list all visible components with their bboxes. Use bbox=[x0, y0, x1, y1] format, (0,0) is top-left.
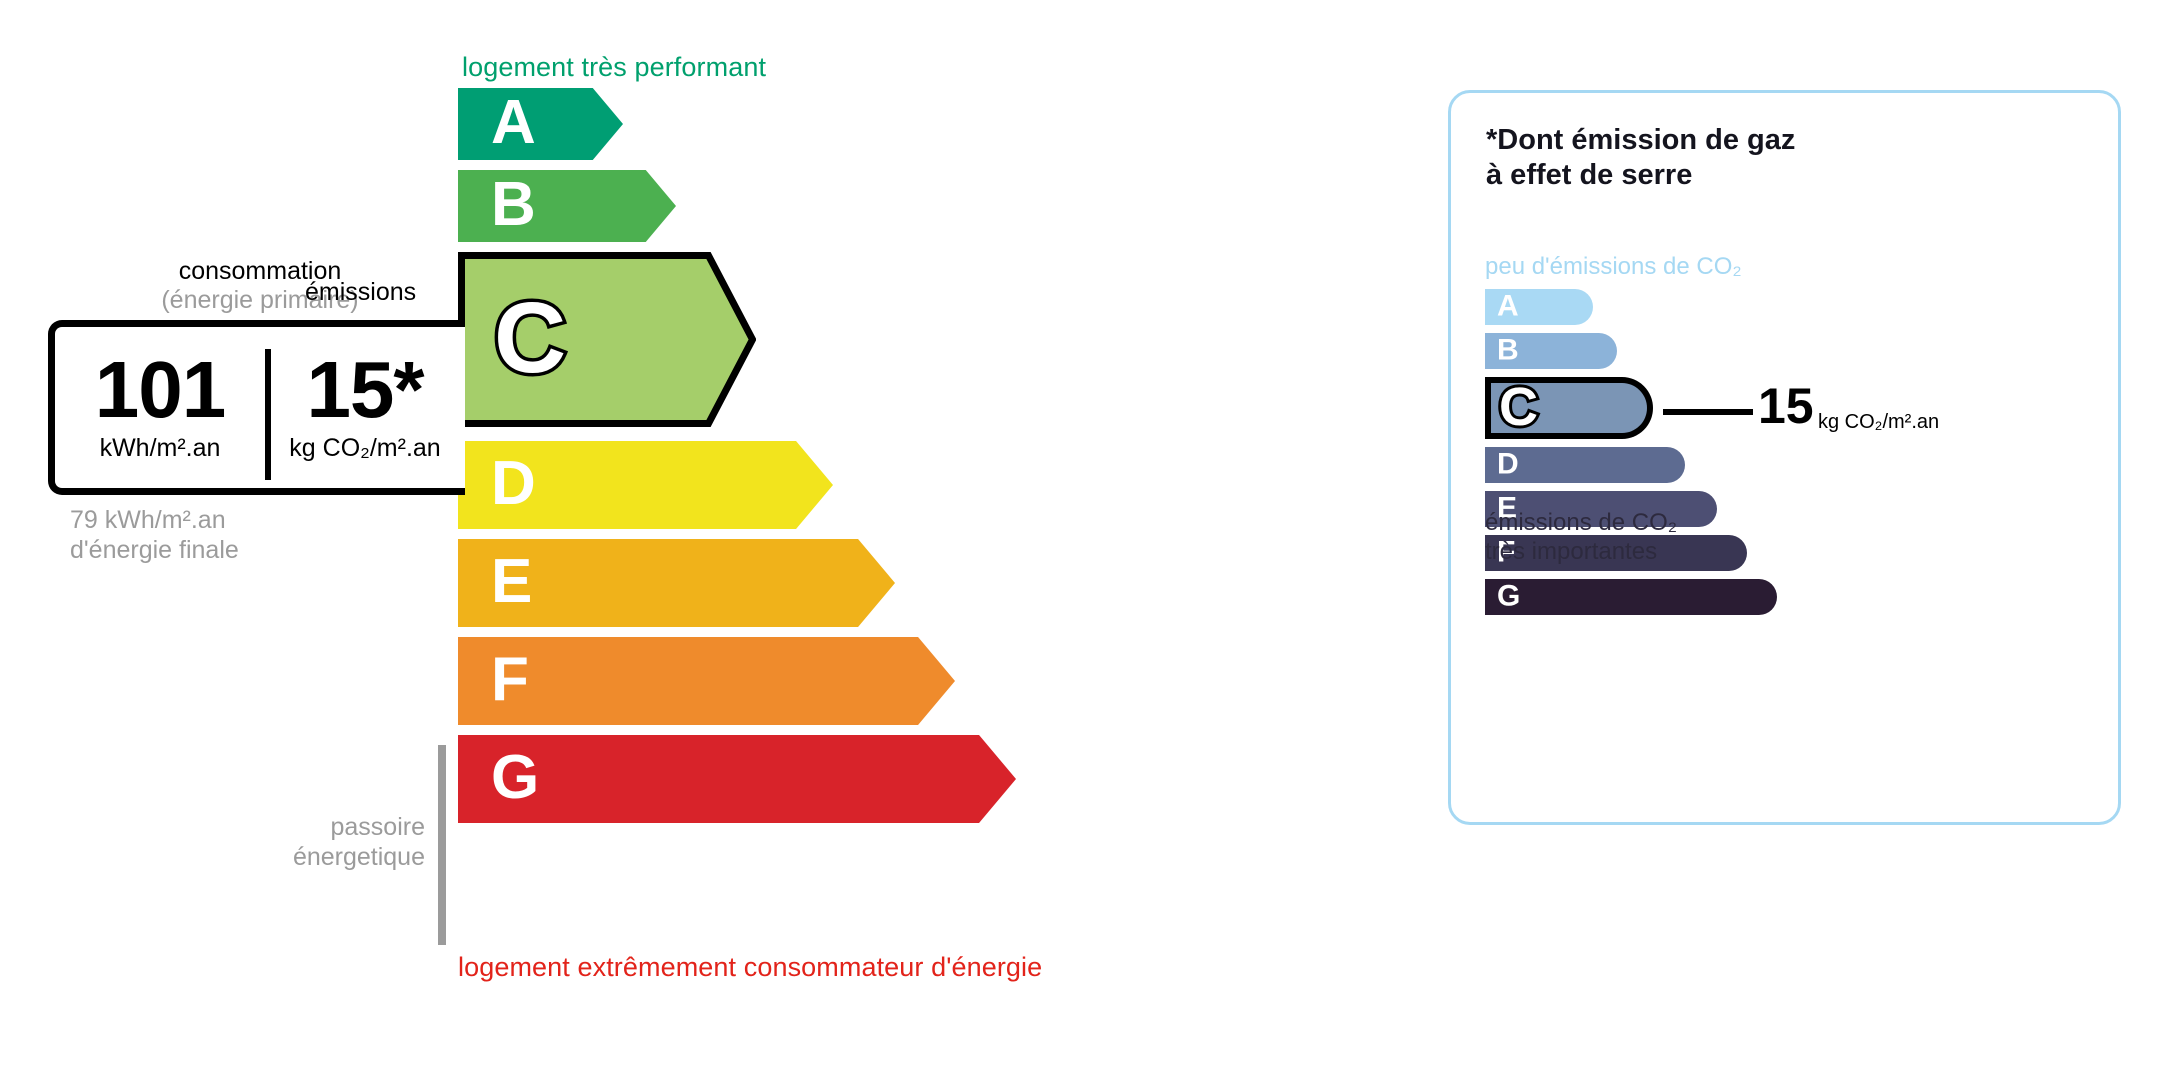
caption-high-performance: logement très performant bbox=[462, 52, 766, 83]
co2-grade-bar-a: A bbox=[1485, 289, 1593, 325]
energy-grade-letter-c: C bbox=[494, 288, 566, 388]
co2-caption-high-line2: très importantes bbox=[1485, 537, 1677, 566]
co2-grade-bar-b: B bbox=[1485, 333, 1617, 369]
co2-caption-low: peu d'émissions de CO₂ bbox=[1485, 253, 1742, 281]
energy-grade-arrow-c: C bbox=[458, 252, 756, 427]
co2-emissions-panel: *Dont émission de gaz à effet de serre p… bbox=[1448, 90, 2121, 825]
energy-grade-arrow-d: D bbox=[458, 441, 833, 529]
co2-panel-title: *Dont émission de gaz à effet de serre bbox=[1486, 123, 1795, 194]
energy-grade-letter-a: A bbox=[491, 92, 536, 154]
co2-grade-letter-b: B bbox=[1497, 335, 1519, 365]
energy-grade-letter-g: G bbox=[491, 747, 539, 809]
energy-grade-arrow-list: ABCDEFG bbox=[458, 88, 1016, 833]
emissions-cell: 15* kg CO₂/m².an bbox=[265, 327, 465, 488]
passoire-label-line2: énergetique bbox=[270, 842, 425, 872]
co2-grade-letter-a: A bbox=[1497, 291, 1519, 321]
energy-grade-letter-f: F bbox=[491, 649, 529, 711]
arrow-shape-g bbox=[458, 735, 1016, 823]
co2-grade-bar-list: ABCDEFG bbox=[1485, 289, 1777, 623]
co2-leader-line bbox=[1663, 409, 1753, 415]
co2-grade-bar-g: G bbox=[1485, 579, 1777, 615]
co2-grade-letter-c: C bbox=[1499, 380, 1538, 434]
consumption-value: 101 bbox=[95, 352, 225, 428]
co2-title-line1: *Dont émission de gaz bbox=[1486, 123, 1795, 158]
energy-grade-arrow-g: G bbox=[458, 735, 1016, 823]
energy-grade-arrow-e: E bbox=[458, 539, 895, 627]
co2-grade-letter-d: D bbox=[1497, 449, 1519, 479]
passoire-label: passoire énergetique bbox=[270, 812, 425, 872]
energy-grade-letter-d: D bbox=[491, 453, 536, 515]
co2-grade-bar-d: D bbox=[1485, 447, 1685, 483]
co2-grade-bar-c: C bbox=[1485, 377, 1653, 439]
consumption-cell: 101 kWh/m².an bbox=[55, 327, 265, 488]
emissions-unit: kg CO₂/m².an bbox=[289, 434, 440, 463]
passoire-bracket bbox=[438, 745, 446, 945]
co2-value: 15 bbox=[1758, 381, 1814, 431]
co2-grade-letter-g: G bbox=[1497, 581, 1520, 611]
energy-grade-arrow-a: A bbox=[458, 88, 623, 160]
energy-grade-letter-e: E bbox=[491, 551, 532, 613]
emissions-value: 15* bbox=[306, 352, 423, 428]
co2-caption-high: émissions de CO₂ très importantes bbox=[1485, 508, 1677, 567]
final-energy-note: 79 kWh/m².an d'énergie finale bbox=[70, 505, 239, 565]
co2-value-unit: kg CO₂/m².an bbox=[1818, 412, 1939, 432]
caption-high-consumption: logement extrêmement consommateur d'éner… bbox=[458, 952, 1042, 983]
final-energy-line1: 79 kWh/m².an bbox=[70, 505, 239, 535]
energy-grade-letter-b: B bbox=[491, 174, 536, 236]
arrow-shape-a bbox=[458, 88, 623, 160]
final-energy-line2: d'énergie finale bbox=[70, 535, 239, 565]
energy-performance-panel: logement très performant ABCDEFG logemen… bbox=[0, 0, 1420, 1079]
emissions-heading: émissions bbox=[305, 278, 416, 307]
co2-caption-high-line1: émissions de CO₂ bbox=[1485, 508, 1677, 537]
passoire-label-line1: passoire bbox=[270, 812, 425, 842]
co2-title-line2: à effet de serre bbox=[1486, 158, 1795, 193]
arrow-shape-f bbox=[458, 637, 955, 725]
consumption-unit: kWh/m².an bbox=[100, 434, 221, 463]
dpe-diagram: logement très performant ABCDEFG logemen… bbox=[0, 0, 2169, 1079]
energy-grade-arrow-b: B bbox=[458, 170, 676, 242]
rating-summary-box: consommation (énergie primaire) 101 kWh/… bbox=[48, 320, 465, 495]
energy-grade-arrow-f: F bbox=[458, 637, 955, 725]
